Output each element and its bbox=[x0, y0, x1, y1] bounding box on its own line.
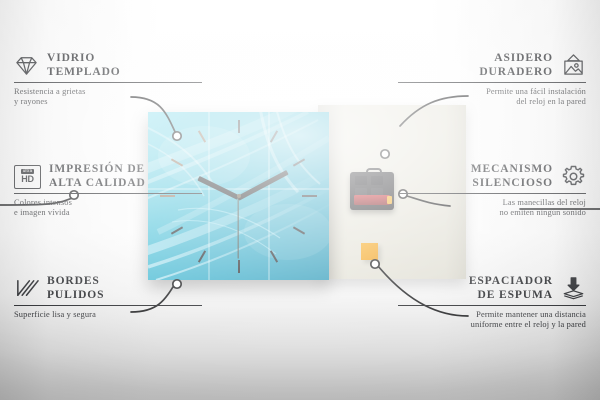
connector-dot-hanger bbox=[381, 150, 389, 158]
feature-header: BORDES PULIDOS bbox=[14, 275, 202, 302]
feature-divider bbox=[14, 305, 202, 306]
wall-frame-hanger-icon bbox=[561, 53, 586, 78]
feature-title: IMPRESIÓN DE ALTA CALIDAD bbox=[49, 163, 146, 190]
feature-description: Permite una fácil instalación del reloj … bbox=[398, 87, 586, 108]
feature-header: ASIDERO DURADERO bbox=[398, 52, 586, 79]
feature-title: VIDRIO TEMPLADO bbox=[47, 52, 121, 79]
feature-vidrio-templado[interactable]: VIDRIO TEMPLADO Resistencia a grietas y … bbox=[14, 52, 202, 108]
feature-title: MECANISMO SILENCIOSO bbox=[471, 163, 553, 190]
feature-header: ESPACIADOR DE ESPUMA bbox=[398, 275, 586, 302]
infographic-canvas: VIDRIO TEMPLADO Resistencia a grietas y … bbox=[0, 0, 600, 400]
feature-description: Permite mantener una distancia uniforme … bbox=[398, 310, 586, 331]
feature-bordes-pulidos[interactable]: BORDES PULIDOS Superficie lisa y segura bbox=[14, 275, 202, 320]
feature-header: VIDRIO TEMPLADO bbox=[14, 52, 202, 79]
feature-description: Superficie lisa y segura bbox=[14, 310, 202, 320]
feature-divider bbox=[398, 305, 586, 306]
feature-description: Las manecillas del reloj no emiten ningú… bbox=[398, 198, 586, 219]
feature-impresion-alta-calidad[interactable]: ultraHD IMPRESIÓN DE ALTA CALIDAD Colore… bbox=[14, 163, 202, 219]
feature-title: ESPACIADOR DE ESPUMA bbox=[469, 275, 553, 302]
foam-spacer-arrow-icon bbox=[561, 276, 586, 301]
feature-divider bbox=[14, 82, 202, 83]
feature-title: BORDES PULIDOS bbox=[47, 275, 104, 302]
feature-title: ASIDERO DURADERO bbox=[479, 52, 553, 79]
feature-espaciador-de-espuma[interactable]: ESPACIADOR DE ESPUMA Permite mantener un… bbox=[398, 275, 586, 331]
feature-divider bbox=[398, 193, 586, 194]
feature-header: ultraHD IMPRESIÓN DE ALTA CALIDAD bbox=[14, 163, 202, 190]
connector-dot-spacer bbox=[371, 260, 379, 268]
feature-header: MECANISMO SILENCIOSO bbox=[398, 163, 586, 190]
feature-description: Colores intensos e imagen vívida bbox=[14, 198, 202, 219]
ultra-hd-icon: ultraHD bbox=[14, 165, 41, 189]
feature-divider bbox=[14, 193, 202, 194]
feature-description: Resistencia a grietas y rayones bbox=[14, 87, 202, 108]
connector-dot-glass bbox=[173, 132, 181, 140]
polished-edges-icon bbox=[14, 276, 39, 301]
feature-asidero-duradero[interactable]: ASIDERO DURADERO Permite una fácil insta… bbox=[398, 52, 586, 108]
feature-mecanismo-silencioso[interactable]: MECANISMO SILENCIOSO Las manecillas del … bbox=[398, 163, 586, 219]
feature-divider bbox=[398, 82, 586, 83]
gear-icon bbox=[561, 164, 586, 189]
diamond-icon bbox=[14, 53, 39, 78]
